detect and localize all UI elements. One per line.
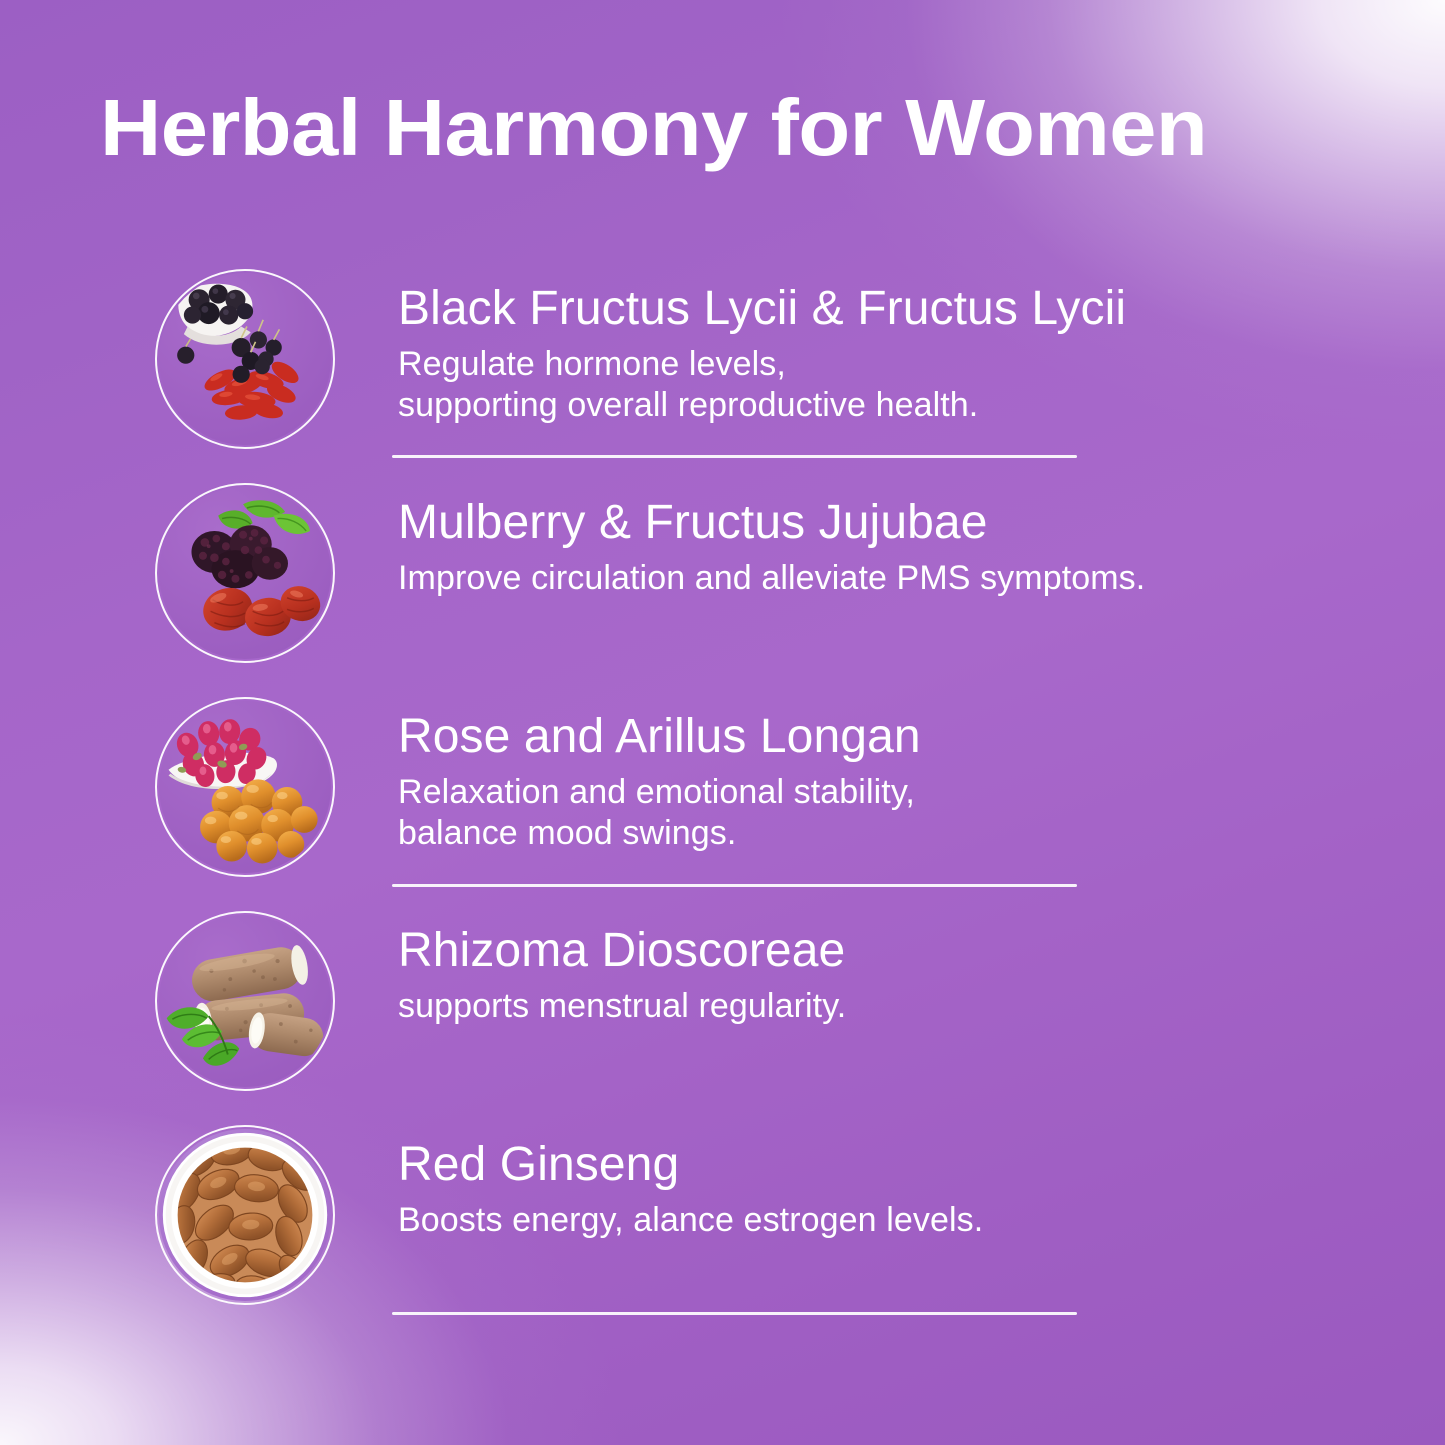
ingredient-description: Improve circulation and alleviate PMS sy… — [398, 558, 1445, 599]
ingredient-thumbnail — [155, 1125, 335, 1305]
red-ginseng-slices-icon — [159, 1129, 331, 1301]
rose-longan-icon — [159, 701, 331, 873]
ingredient-content: Red Ginseng Boosts energy, alance estrog… — [335, 1118, 1445, 1241]
mulberry-jujube-icon — [159, 487, 331, 659]
ingredient-content: Rose and Arillus Longan Relaxation and e… — [335, 690, 1445, 853]
ingredient-thumbnail — [155, 911, 335, 1091]
description-line: Improve circulation and alleviate PMS sy… — [398, 558, 1445, 599]
description-line: balance mood swings. — [398, 813, 1445, 854]
list-item[interactable]: Mulberry & Fructus Jujubae Improve circu… — [0, 476, 1445, 690]
ingredient-title: Black Fructus Lycii & Fructus Lycii — [398, 284, 1445, 335]
list-item[interactable]: Rhizoma Dioscoreae supports menstrual re… — [0, 904, 1445, 1118]
ingredient-content: Black Fructus Lycii & Fructus Lycii Regu… — [335, 262, 1445, 425]
ingredient-content: Mulberry & Fructus Jujubae Improve circu… — [335, 476, 1445, 599]
ingredient-title: Red Ginseng — [398, 1140, 1445, 1191]
herbal-harmony-poster: Herbal Harmony for Women — [0, 0, 1445, 1445]
list-item[interactable]: Black Fructus Lycii & Fructus Lycii Regu… — [0, 262, 1445, 476]
ingredient-title: Rose and Arillus Longan — [398, 712, 1445, 763]
ingredient-title: Mulberry & Fructus Jujubae — [398, 498, 1445, 549]
ingredient-thumbnail — [155, 269, 335, 449]
black-goji-berries-icon — [159, 273, 331, 445]
yam-root-icon — [159, 915, 331, 1087]
description-line: Regulate hormone levels, — [398, 344, 1445, 385]
row-divider — [392, 455, 1077, 458]
list-item[interactable]: Red Ginseng Boosts energy, alance estrog… — [0, 1118, 1445, 1332]
ingredient-description: Relaxation and emotional stability, bala… — [398, 772, 1445, 854]
ingredient-thumbnail — [155, 483, 335, 663]
list-item[interactable]: Rose and Arillus Longan Relaxation and e… — [0, 690, 1445, 904]
ingredient-thumbnail — [155, 697, 335, 877]
description-line: supporting overall reproductive health. — [398, 385, 1445, 426]
ingredient-title: Rhizoma Dioscoreae — [398, 926, 1445, 977]
ingredient-list: Black Fructus Lycii & Fructus Lycii Regu… — [0, 262, 1445, 1332]
page-title: Herbal Harmony for Women — [100, 88, 1425, 168]
description-line: Boosts energy, alance estrogen levels. — [398, 1200, 1445, 1241]
description-line: Relaxation and emotional stability, — [398, 772, 1445, 813]
ingredient-description: Boosts energy, alance estrogen levels. — [398, 1200, 1445, 1241]
ingredient-description: supports menstrual regularity. — [398, 986, 1445, 1027]
ingredient-description: Regulate hormone levels, supporting over… — [398, 344, 1445, 426]
ingredient-content: Rhizoma Dioscoreae supports menstrual re… — [335, 904, 1445, 1027]
description-line: supports menstrual regularity. — [398, 986, 1445, 1027]
